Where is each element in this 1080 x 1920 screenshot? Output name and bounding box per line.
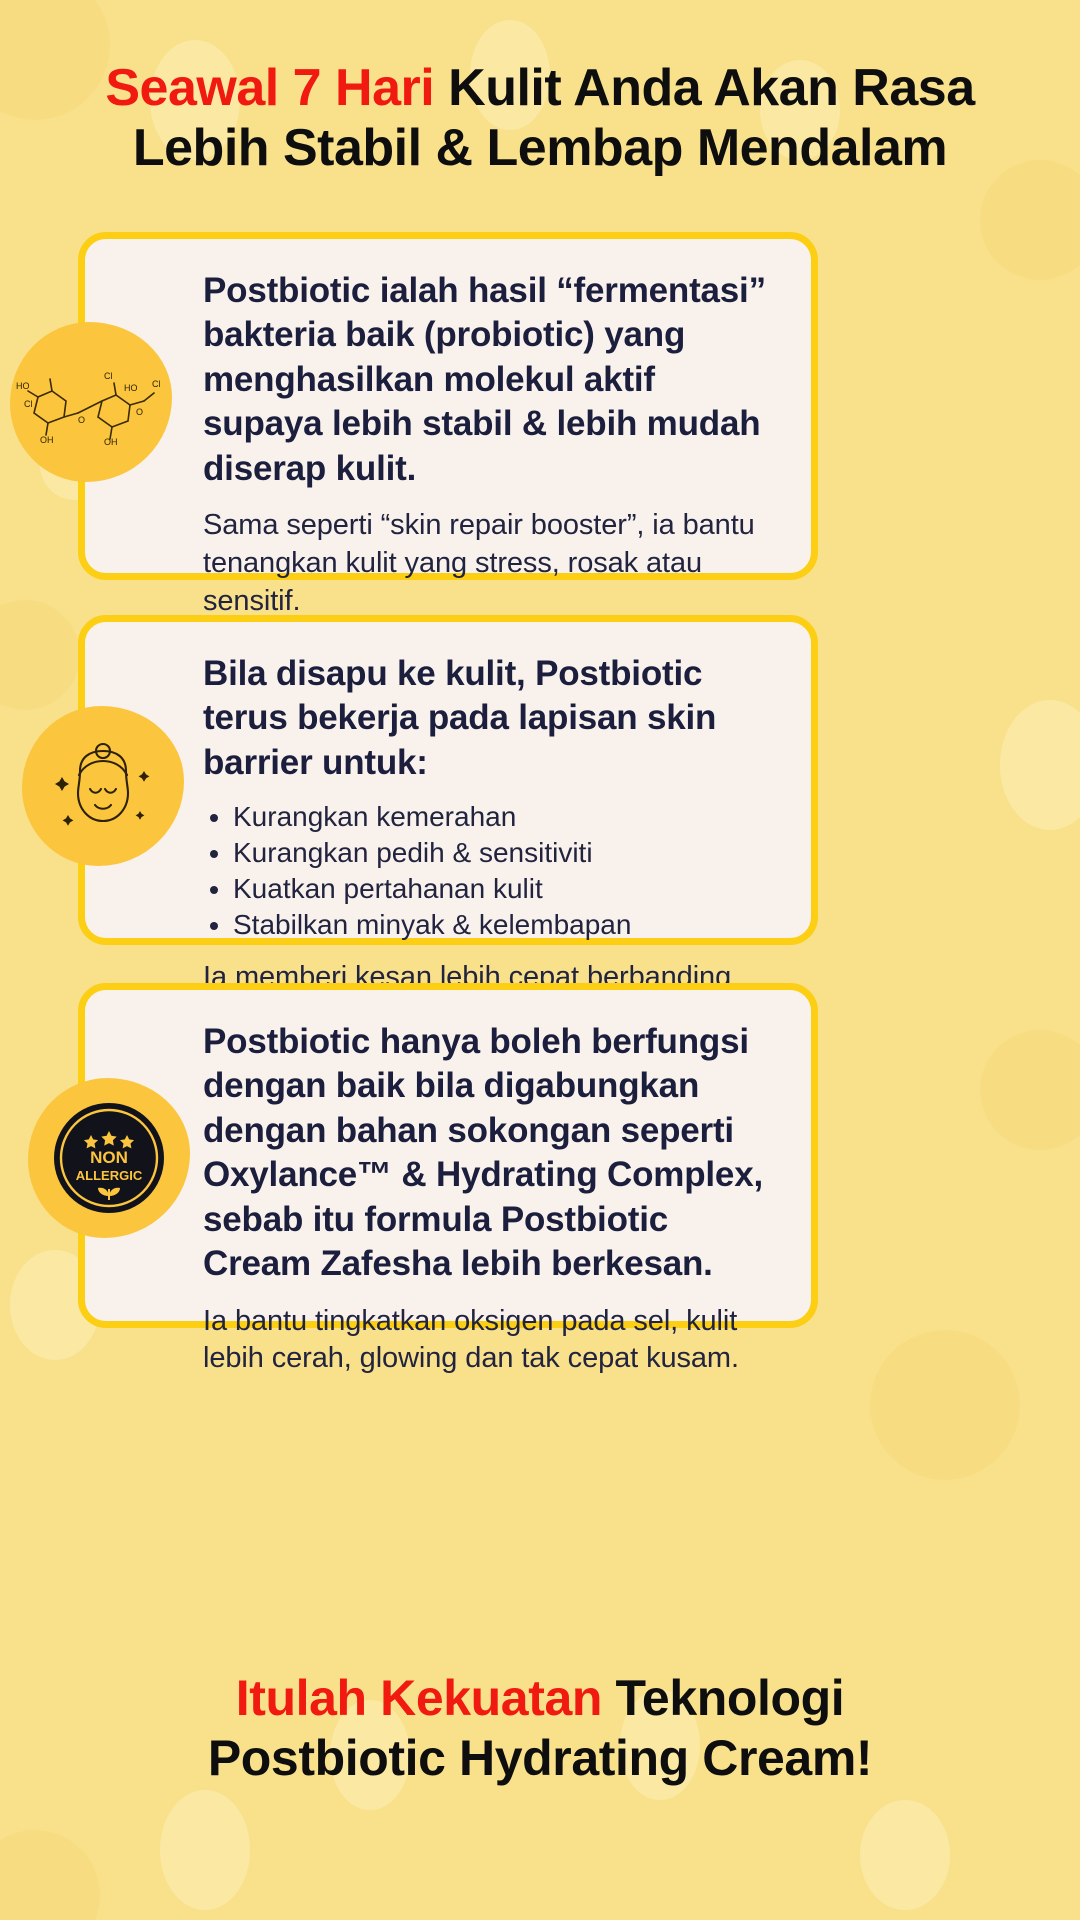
- molecule-structure-icon: HO Cl OH O Cl O OH Cl HO: [16, 357, 166, 447]
- sparkle-icons: [55, 771, 149, 826]
- headline-rest-line1: Kulit Anda Akan Rasa: [434, 59, 974, 117]
- list-item: Kurangkan kemerahan: [233, 799, 775, 835]
- card3-body: Ia bantu tingkatkan oksigen pada sel, ku…: [203, 1303, 775, 1378]
- badge-text-allergic: ALLERGIC: [76, 1168, 143, 1183]
- molecule-label-o2: O: [136, 407, 143, 417]
- molecule-label-cl1: Cl: [24, 399, 33, 409]
- card1-heading: Postbiotic ialah hasil “fermentasi” bakt…: [203, 269, 775, 491]
- page-title: Seawal 7 Hari Kulit Anda Akan Rasa Lebih…: [0, 58, 1080, 179]
- footer-rest-line1: Teknologi: [602, 1670, 844, 1726]
- molecule-label-o1: O: [78, 415, 85, 425]
- list-item: Kurangkan pedih & sensitiviti: [233, 835, 775, 871]
- molecule-label-ho: HO: [16, 381, 30, 391]
- non-allergic-seal-icon: NON ALLERGIC: [50, 1099, 168, 1217]
- card1-body: Sama seperti “skin repair booster”, ia b…: [203, 507, 775, 620]
- footer-highlight: Itulah Kekuatan: [236, 1670, 602, 1726]
- footer-title: Itulah Kekuatan Teknologi Postbiotic Hyd…: [0, 1668, 1080, 1788]
- molecule-label-oh2: OH: [104, 437, 118, 447]
- info-card-postbiotic-definition: Postbiotic ialah hasil “fermentasi” bakt…: [78, 232, 818, 580]
- card3-heading: Postbiotic hanya boleh berfungsi dengan …: [203, 1020, 775, 1287]
- badge-text-non: NON: [90, 1148, 128, 1167]
- molecule-label-ho2: HO: [124, 383, 138, 393]
- molecule-label-cl2: Cl: [104, 371, 113, 381]
- woman-face-icon: [48, 731, 158, 841]
- molecule-label-cl3: Cl: [152, 379, 161, 389]
- card2-benefit-list: Kurangkan kemerahan Kurangkan pedih & se…: [203, 799, 775, 942]
- headline-line2: Lebih Stabil & Lembap Mendalam: [133, 119, 947, 177]
- molecule-icon: HO Cl OH O Cl O OH Cl HO: [10, 322, 172, 482]
- info-card-skin-barrier-benefits: Bila disapu ke kulit, Postbiotic terus b…: [78, 615, 818, 945]
- non-allergic-badge-icon: NON ALLERGIC: [28, 1078, 190, 1238]
- face-icon: [22, 706, 184, 866]
- headline-highlight: Seawal 7 Hari: [105, 59, 434, 117]
- card2-heading: Bila disapu ke kulit, Postbiotic terus b…: [203, 652, 775, 785]
- list-item: Stabilkan minyak & kelembapan: [233, 907, 775, 943]
- footer-line2: Postbiotic Hydrating Cream!: [208, 1730, 872, 1786]
- list-item: Kuatkan pertahanan kulit: [233, 871, 775, 907]
- molecule-label-oh1: OH: [40, 435, 54, 445]
